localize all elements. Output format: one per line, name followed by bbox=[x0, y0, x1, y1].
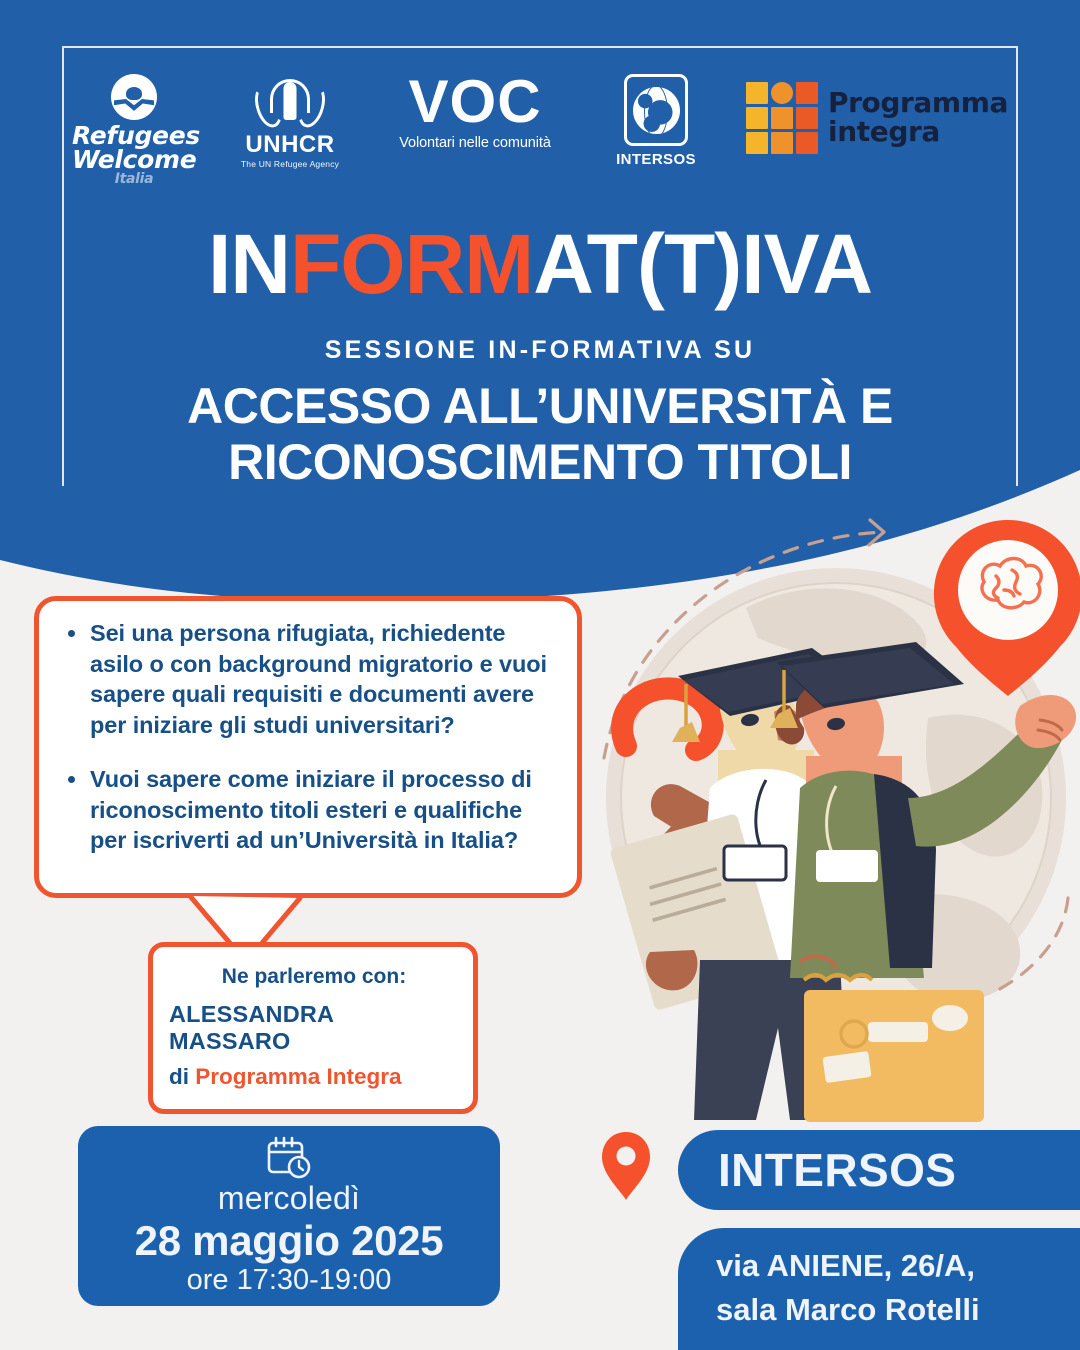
event-date-card: mercoledì 28 maggio 2025 ore 17:30-19:00 bbox=[78, 1126, 500, 1306]
pi-line2: integra bbox=[828, 118, 1008, 147]
poster-kicker: SESSIONE IN-FORMATIVA SU bbox=[0, 336, 1080, 365]
speaker-intro: Ne parleremo con: bbox=[169, 965, 459, 989]
question-item-1: Sei una persona rifugiata, richiedente a… bbox=[64, 618, 552, 740]
logo-intersos: INTERSOS bbox=[604, 72, 708, 168]
questions-speech-bubble: Sei una persona rifugiata, richiedente a… bbox=[34, 596, 582, 898]
graduates-illustration bbox=[568, 498, 1080, 1148]
venue-address: via ANIENE, 26/A, sala Marco Rotelli bbox=[678, 1228, 1080, 1350]
question-item-2: Vuoi sapere come iniziare il processo di… bbox=[64, 764, 552, 856]
logo-refugees-welcome: Refugees Welcome Italia bbox=[72, 72, 196, 186]
calendar-clock-icon bbox=[266, 1136, 312, 1180]
venue-address-line1: via ANIENE, 26/A, bbox=[716, 1244, 1078, 1288]
speaker-affiliation: di Programma Integra bbox=[169, 1064, 459, 1090]
logo-voc: VOC Volontari nelle comunità bbox=[384, 72, 566, 151]
poster-canvas: Refugees Welcome Italia UNHCR The UN Ref… bbox=[0, 0, 1080, 1350]
poster-title: INFORMAT(T)IVA bbox=[0, 216, 1080, 313]
speaker-speech-bubble: Ne parleremo con: ALESSANDRA MASSARO di … bbox=[148, 942, 478, 1114]
intersos-globe-icon bbox=[624, 74, 688, 146]
map-pin-icon bbox=[600, 1130, 652, 1202]
logo-programma-integra: Programma integra bbox=[746, 72, 1008, 154]
rw-line3: Italia bbox=[72, 173, 196, 186]
refugees-welcome-icon bbox=[111, 74, 157, 120]
affiliation-prefix: di bbox=[169, 1064, 195, 1089]
logo-unhcr: UNHCR The UN Refugee Agency bbox=[234, 72, 346, 169]
unhcr-emblem-icon bbox=[254, 78, 326, 130]
programma-integra-grid-icon bbox=[746, 82, 818, 154]
title-part1: IN bbox=[208, 217, 290, 311]
pi-line1: Programma bbox=[828, 89, 1008, 118]
rw-line2: Welcome bbox=[72, 148, 196, 172]
subtitle-line2: RICONOSCIMENTO TITOLI bbox=[0, 434, 1080, 490]
partner-logo-row: Refugees Welcome Italia UNHCR The UN Ref… bbox=[0, 72, 1080, 190]
subtitle-line1: ACCESSO ALL’UNIVERSITÀ E bbox=[0, 378, 1080, 434]
intersos-title: INTERSOS bbox=[604, 151, 708, 168]
title-highlight: FORM bbox=[290, 217, 533, 311]
event-date: 28 maggio 2025 bbox=[78, 1216, 500, 1266]
affiliation-org: Programma Integra bbox=[195, 1064, 401, 1089]
poster-subtitle: ACCESSO ALL’UNIVERSITÀ E RICONOSCIMENTO … bbox=[0, 378, 1080, 490]
unhcr-title: UNHCR bbox=[234, 133, 346, 157]
venue-address-line2: sala Marco Rotelli bbox=[716, 1288, 1078, 1332]
venue-name: INTERSOS bbox=[678, 1130, 1080, 1210]
unhcr-subtitle: The UN Refugee Agency bbox=[234, 159, 346, 169]
title-part2: AT(T)IVA bbox=[533, 217, 872, 311]
voc-subtitle: Volontari nelle comunità bbox=[384, 135, 566, 151]
event-weekday: mercoledì bbox=[78, 1182, 500, 1216]
questions-list: Sei una persona rifugiata, richiedente a… bbox=[34, 596, 582, 856]
voc-title: VOC bbox=[384, 76, 566, 129]
speaker-name: ALESSANDRA MASSARO bbox=[169, 1001, 459, 1055]
event-time: ore 17:30-19:00 bbox=[78, 1265, 500, 1297]
